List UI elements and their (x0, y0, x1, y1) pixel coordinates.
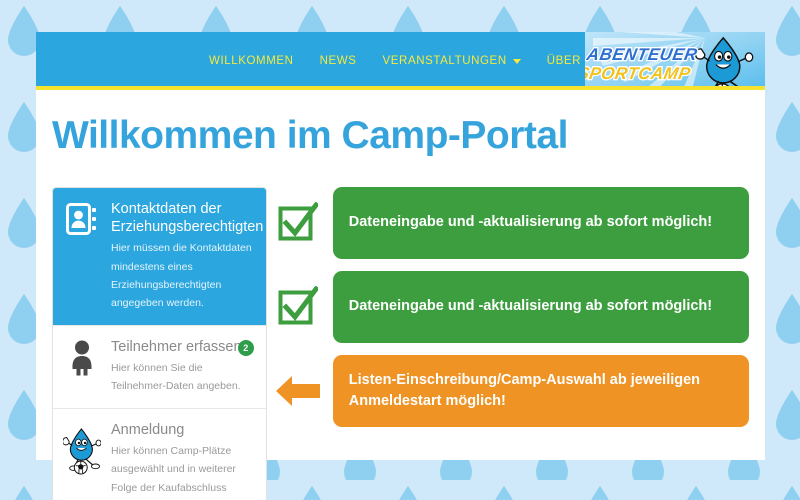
notices-column: Dateneingabe und -aktualisierung ab sofo… (267, 187, 765, 500)
site-logo[interactable]: ABENTEUER SPORTCAMP (585, 32, 765, 90)
page-panel: WILLKOMMEN NEWS VERANSTALTUNGEN ÜBER UNS (36, 32, 765, 460)
step-item-kontaktdaten[interactable]: Kontaktdaten der Erziehungsberechtigten … (53, 188, 266, 326)
notice-row: Dateneingabe und -aktualisierung ab sofo… (275, 187, 749, 259)
person-icon (63, 338, 101, 396)
nav-item-label: WILLKOMMEN (209, 55, 294, 67)
step-title: Kontaktdaten der Erziehungsberechtigten (111, 200, 254, 236)
nav-item-news[interactable]: NEWS (320, 55, 357, 67)
notice-row: Dateneingabe und -aktualisierung ab sofo… (275, 271, 749, 343)
waterdrop-mascot-icon (63, 421, 101, 500)
step-title: Teilnehmer erfassen (111, 338, 254, 356)
step-description: Hier können Camp-Plätze ausgewählt und i… (111, 442, 254, 500)
content-area: Kontaktdaten der Erziehungsberechtigten … (36, 187, 765, 500)
status-badge: 2 (238, 340, 254, 356)
arrow-left-icon (275, 367, 321, 415)
nav-links: WILLKOMMEN NEWS VERANSTALTUNGEN ÜBER UNS (36, 32, 625, 90)
nav-item-label: NEWS (320, 55, 357, 67)
logo-line2: SPORTCAMP (585, 63, 692, 83)
step-item-anmeldung[interactable]: Anmeldung Hier können Camp-Plätze ausgew… (53, 409, 266, 500)
step-description: Hier können Sie die Teilnehmer-Daten ang… (111, 359, 254, 396)
nav-item-willkommen[interactable]: WILLKOMMEN (209, 55, 294, 67)
checkbox-checked-icon (275, 283, 321, 331)
steps-card: Kontaktdaten der Erziehungsberechtigten … (52, 187, 267, 500)
nav-item-label: VERANSTALTUNGEN (383, 55, 507, 67)
checkbox-checked-icon (275, 199, 321, 247)
logo-line1: ABENTEUER (585, 44, 699, 64)
notice-box-dateneingabe-2: Dateneingabe und -aktualisierung ab sofo… (333, 271, 749, 343)
nav-item-veranstaltungen[interactable]: VERANSTALTUNGEN (383, 55, 521, 67)
step-description: Hier müssen die Kontaktdaten mindestens … (111, 239, 254, 313)
step-body: Kontaktdaten der Erziehungsberechtigten … (111, 200, 254, 313)
step-title: Anmeldung (111, 421, 254, 439)
page-title: Willkommen im Camp-Portal (52, 114, 568, 158)
step-body: Anmeldung Hier können Camp-Plätze ausgew… (111, 421, 254, 500)
navbar: WILLKOMMEN NEWS VERANSTALTUNGEN ÜBER UNS (36, 32, 765, 90)
notice-row: Listen-Einschreibung/Camp-Auswahl ab jew… (275, 355, 749, 427)
notice-box-listen-einschreibung: Listen-Einschreibung/Camp-Auswahl ab jew… (333, 355, 749, 427)
step-item-teilnehmer[interactable]: Teilnehmer erfassen Hier können Sie die … (53, 326, 266, 409)
step-body: Teilnehmer erfassen Hier können Sie die … (111, 338, 254, 396)
contact-card-icon (63, 200, 101, 313)
notice-box-dateneingabe-1: Dateneingabe und -aktualisierung ab sofo… (333, 187, 749, 259)
chevron-down-icon (513, 59, 521, 64)
